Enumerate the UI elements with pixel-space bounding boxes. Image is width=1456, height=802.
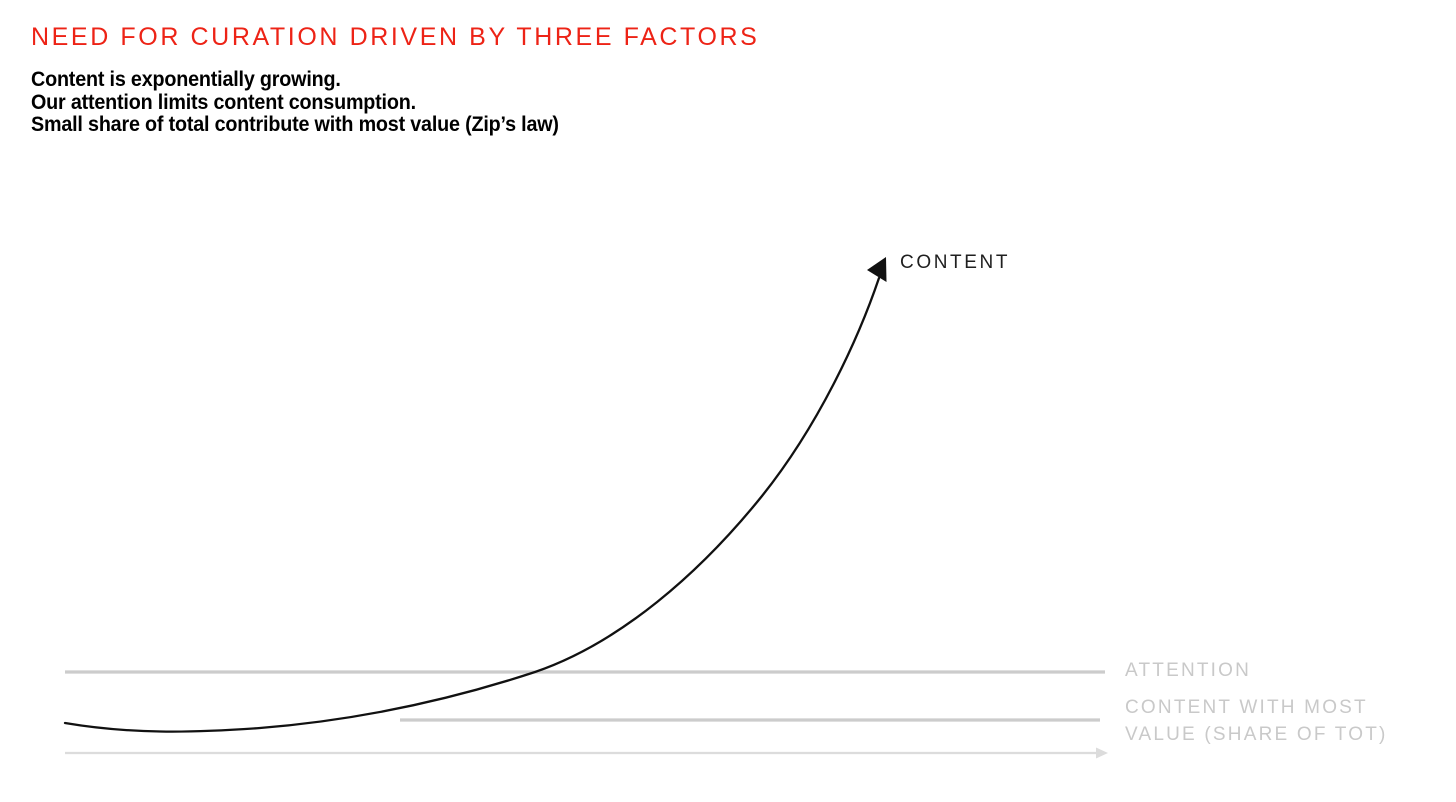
subtitle-block: Content is exponentially growing. Our at… xyxy=(31,69,1231,137)
attention-series-label: ATTENTION xyxy=(1125,660,1251,682)
slide-canvas: NEED FOR CURATION DRIVEN BY THREE FACTOR… xyxy=(0,0,1456,802)
content-series-label: CONTENT xyxy=(900,252,1010,274)
content-exponential-curve xyxy=(65,278,879,732)
subtitle-line-3: Small share of total contribute with mos… xyxy=(31,114,1159,137)
page-title: NEED FOR CURATION DRIVEN BY THREE FACTOR… xyxy=(31,22,1231,52)
value-share-series-label: CONTENT WITH MOST VALUE (SHARE OF TOT) xyxy=(1125,694,1388,748)
value-share-label-line-1: CONTENT WITH MOST xyxy=(1125,694,1388,721)
content-curve-arrow-icon xyxy=(867,257,887,282)
subtitle-line-1: Content is exponentially growing. xyxy=(31,69,1159,92)
value-share-label-line-2: VALUE (SHARE OF TOT) xyxy=(1125,721,1388,748)
x-axis-arrow-icon xyxy=(1096,748,1108,759)
slide-header: NEED FOR CURATION DRIVEN BY THREE FACTOR… xyxy=(31,22,1231,137)
subtitle-line-2: Our attention limits content consumption… xyxy=(31,92,1159,115)
